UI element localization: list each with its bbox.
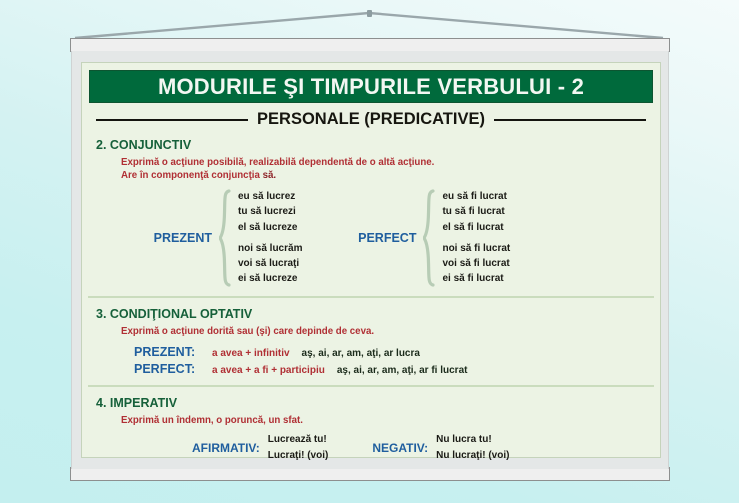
brace-svg-prezent [219, 189, 231, 287]
form-prezent-pl-1: noi să lucrăm [238, 241, 302, 256]
poster-bottom-rail [70, 467, 670, 481]
imperative-groups: AFIRMATIV: Lucrează tu! Lucraţi! (voi) N… [96, 432, 646, 464]
curly-brace-icon [423, 189, 435, 287]
form-perfect-pl-2: voi să fi lucrat [442, 256, 510, 271]
form-negativ-2: Nu lucraţi! (voi) [436, 448, 509, 464]
form-prezent-sg-1: eu să lucrez [238, 189, 302, 204]
section-conditional-optativ: 3. CONDIŢIONAL OPTATIV Exprimă o acţiune… [82, 307, 660, 376]
poster-title-bar: MODURILE ŞI TIMPURILE VERBULUI - 2 [89, 70, 653, 103]
formula-perfect: a avea + a fi + participiu [212, 365, 325, 376]
imperative-forms-afirmativ: Lucrează tu! Lucraţi! (voi) [268, 432, 329, 464]
section-divider [88, 296, 654, 298]
conjunctiv-desc-line-2-prefix: Are în componenţă conjuncţia [121, 170, 263, 181]
cord-nail-icon [367, 10, 372, 17]
rule-right [494, 119, 646, 121]
formula-prezent: a avea + infinitiv [212, 348, 290, 359]
form-perfect-sg-1: eu să fi lucrat [442, 189, 510, 204]
conditional-row-prezent: PREZENT: a avea + infinitiv aş, ai, ar, … [134, 345, 646, 359]
conjunctiv-desc-line-1: Exprimă o acţiune posibilă, realizabilă … [121, 156, 646, 169]
conditional-rows: PREZENT: a avea + infinitiv aş, ai, ar, … [134, 345, 646, 376]
form-perfect-sg-3: el să fi lucrat [442, 220, 510, 235]
brace-svg-perfect [423, 189, 435, 287]
section-description-conjunctiv: Exprimă o acţiune posibilă, realizabilă … [121, 156, 646, 183]
poster-board: MODURILE ŞI TIMPURILE VERBULUI - 2 PERSO… [71, 51, 669, 469]
curly-brace-icon [219, 189, 231, 287]
section-divider [88, 385, 654, 387]
rule-left [96, 119, 248, 121]
form-perfect-sg-2: tu să fi lucrat [442, 204, 510, 219]
form-perfect-pl-1: noi să fi lucrat [442, 241, 510, 256]
section-conjunctiv: 2. CONJUNCTIV Exprimă o acţiune posibilă… [82, 138, 660, 287]
conjunctiv-desc-line-2: Are în componenţă conjuncţia să. [121, 169, 646, 182]
page-title: MODURILE ŞI TIMPURILE VERBULUI - 2 [158, 74, 584, 100]
conjunctiv-conjugation-table: PREZENT eu să lucrez tu să lucrezi el să… [96, 189, 646, 287]
form-prezent-sg-3: el să lucreze [238, 220, 302, 235]
imperative-group-negativ: NEGATIV: Nu lucra tu! Nu lucraţi! (voi) [372, 432, 509, 464]
conditional-row-perfect: PERFECT: a avea + a fi + participiu aş, … [134, 362, 646, 376]
section-imperativ: 4. IMPERATIV Exprimă un îndemn, o porunc… [82, 396, 660, 463]
conjunctiv-desc-line-2-bold: să. [263, 170, 276, 181]
section-description-imperativ: Exprimă un îndemn, o poruncă, un sfat. [121, 414, 646, 427]
form-perfect-pl-3: ei să fi lucrat [442, 271, 510, 286]
section-heading-imperativ: 4. IMPERATIV [96, 396, 646, 410]
section-description-conditional: Exprimă o acţiune dorită sau (şi) care d… [121, 325, 646, 338]
form-prezent-pl-2: voi să lucraţi [238, 256, 302, 271]
conjugation-forms-prezent: eu să lucrez tu să lucrezi el să lucreze… [238, 189, 302, 286]
tense-label-perfect: PERFECT [340, 231, 416, 245]
imperative-label-afirmativ: AFIRMATIV: [192, 441, 260, 455]
tense-label-prezent: PREZENT: [134, 345, 206, 359]
poster-sheet: MODURILE ŞI TIMPURILE VERBULUI - 2 PERSO… [81, 62, 661, 458]
conjugation-group-perfect: PERFECT eu să fi lucrat tu să fi lucrat … [340, 189, 510, 287]
conjugation-group-prezent: PREZENT eu să lucrez tu să lucrezi el să… [136, 189, 302, 287]
wall-chart-poster: MODURILE ŞI TIMPURILE VERBULUI - 2 PERSO… [70, 38, 670, 481]
example-prezent: aş, ai, ar, am, aţi, ar lucra [302, 348, 420, 359]
poster-top-rail [70, 38, 670, 52]
page-subtitle: PERSONALE (PREDICATIVE) [257, 110, 485, 129]
tense-label-perfect: PERFECT: [134, 362, 206, 376]
imperative-forms-negativ: Nu lucra tu! Nu lucraţi! (voi) [436, 432, 509, 464]
form-prezent-pl-3: ei să lucreze [238, 271, 302, 286]
tense-label-prezent: PREZENT [136, 231, 212, 245]
example-perfect: aş, ai, ar, am, aţi, ar fi lucrat [337, 365, 468, 376]
section-heading-conditional: 3. CONDIŢIONAL OPTATIV [96, 307, 646, 321]
form-prezent-sg-2: tu să lucrezi [238, 204, 302, 219]
form-afirmativ-1: Lucrează tu! [268, 432, 329, 448]
conjugation-forms-perfect: eu să fi lucrat tu să fi lucrat el să fi… [442, 189, 510, 286]
form-afirmativ-2: Lucraţi! (voi) [268, 448, 329, 464]
form-negativ-1: Nu lucra tu! [436, 432, 509, 448]
section-heading-conjunctiv: 2. CONJUNCTIV [96, 138, 646, 152]
subtitle-row: PERSONALE (PREDICATIVE) [96, 110, 646, 129]
imperative-group-afirmativ: AFIRMATIV: Lucrează tu! Lucraţi! (voi) [192, 432, 328, 464]
imperative-label-negativ: NEGATIV: [372, 441, 428, 455]
